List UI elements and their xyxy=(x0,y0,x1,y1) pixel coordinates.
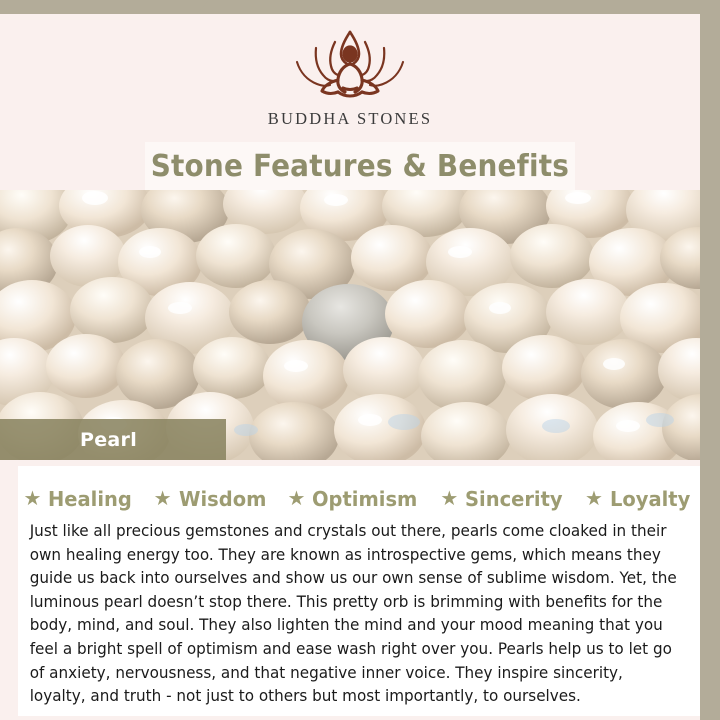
star-icon: ★ xyxy=(23,489,41,509)
star-icon: ★ xyxy=(288,489,306,509)
brand-name: BUDDHA STONES xyxy=(268,109,432,129)
benefit-label: Sincerity xyxy=(465,487,563,511)
stone-name-label: Pearl xyxy=(80,429,137,451)
benefit-item-sincerity: ★ Sincerity xyxy=(440,487,568,511)
benefit-item-wisdom: ★ Wisdom xyxy=(154,487,271,511)
buddha-lotus-icon xyxy=(275,28,425,102)
description-panel: ★ Healing ★ Wisdom ★ Optimism ★ Sincerit… xyxy=(18,466,700,716)
star-icon: ★ xyxy=(585,489,603,509)
benefit-item-optimism: ★ Optimism xyxy=(288,487,424,511)
benefit-label: Loyalty xyxy=(610,487,690,511)
benefit-label: Healing xyxy=(48,487,132,511)
infographic-page: BUDDHA STONES xyxy=(0,0,720,720)
benefit-label: Optimism xyxy=(312,487,417,511)
benefit-label: Wisdom xyxy=(179,487,266,511)
stone-name-bar: Pearl xyxy=(0,419,226,460)
section-title-banner: Stone Features & Benefits xyxy=(145,142,575,190)
benefits-list: ★ Healing ★ Wisdom ★ Optimism ★ Sincerit… xyxy=(18,482,700,516)
benefit-item-loyalty: ★ Loyalty xyxy=(585,487,694,511)
page-title: Stone Features & Benefits xyxy=(151,149,569,184)
benefit-item-healing: ★ Healing xyxy=(23,487,136,511)
star-icon: ★ xyxy=(440,489,458,509)
frame-band-right xyxy=(700,0,720,720)
content-card: BUDDHA STONES xyxy=(0,14,700,720)
star-icon: ★ xyxy=(154,489,172,509)
description-text: Just like all precious gemstones and cry… xyxy=(18,516,695,709)
